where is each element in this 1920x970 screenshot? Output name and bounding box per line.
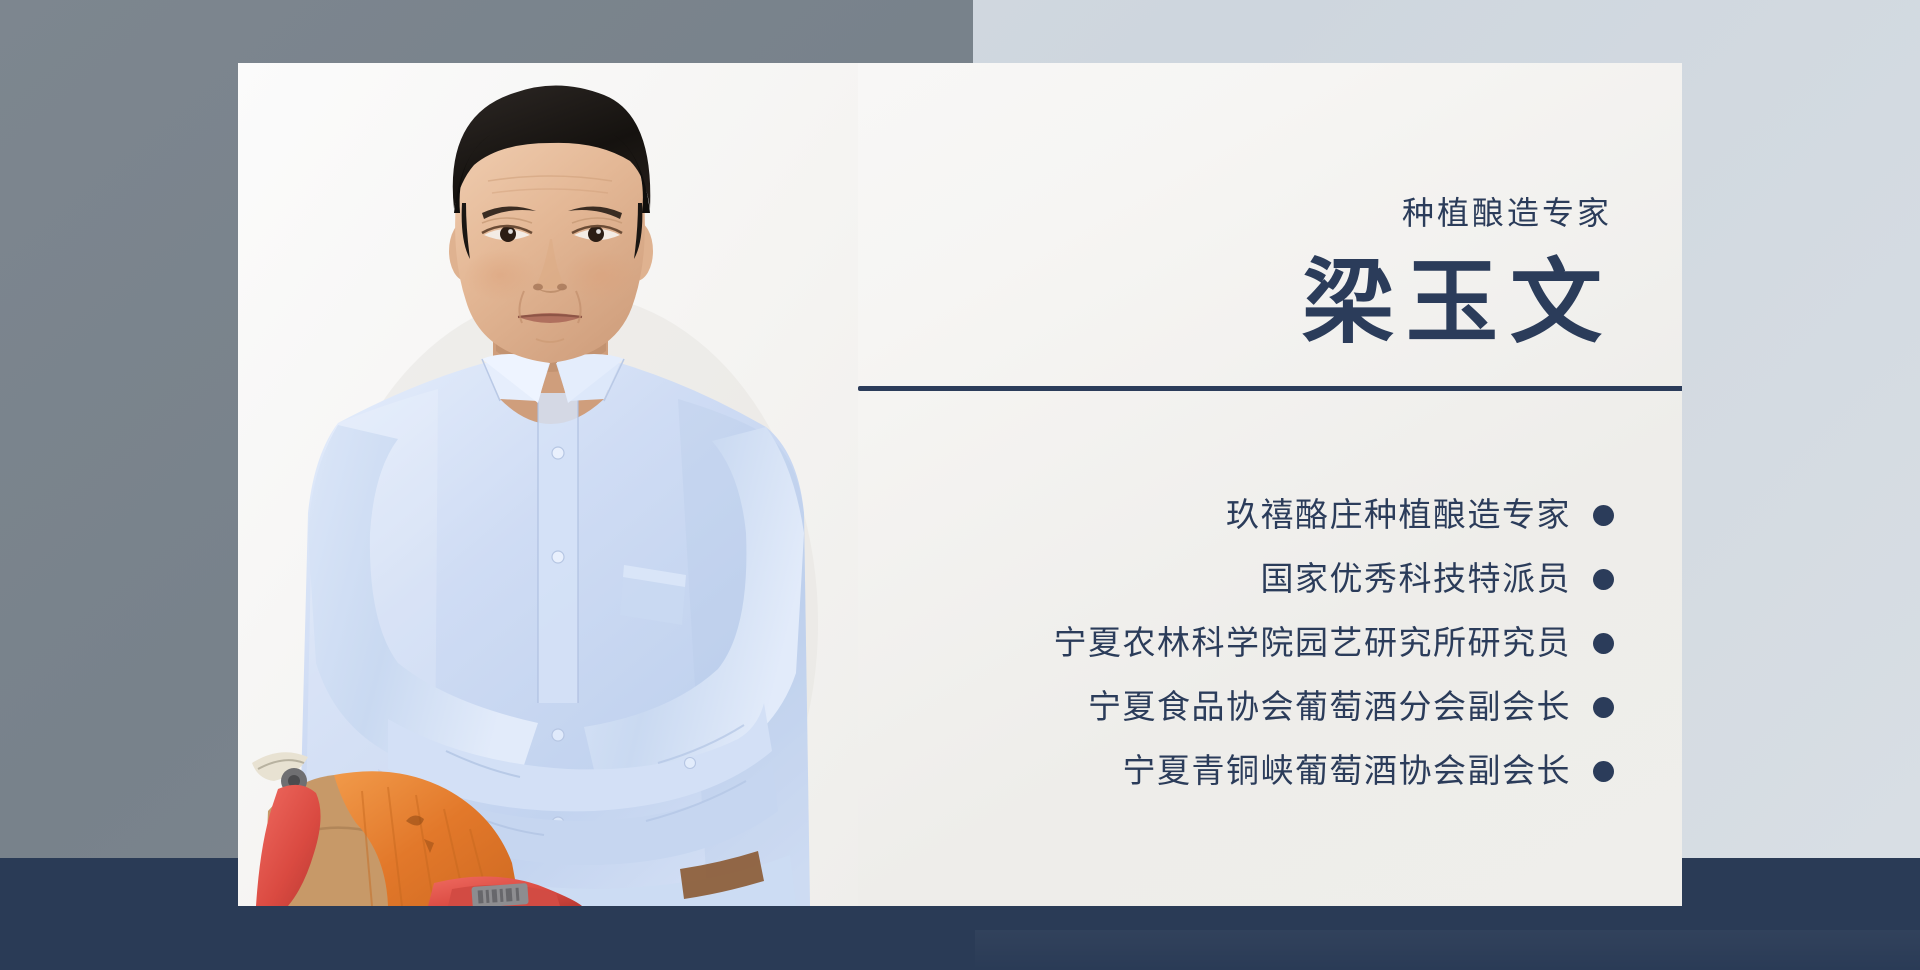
credential-label: 国家优秀科技特派员 [1261, 557, 1572, 601]
role-eyebrow: 种植酿造专家 [1402, 193, 1612, 233]
navy-band-sheen [975, 930, 1920, 970]
page-background: 种植酿造专家 梁玉文 玖禧酪庄种植酿造专家 国家优秀科技特派员 宁夏农林科学院园… [0, 0, 1920, 970]
list-item: 国家优秀科技特派员 [1261, 547, 1615, 611]
credential-label: 玖禧酪庄种植酿造专家 [1226, 493, 1571, 537]
person-name: 梁玉文 [1302, 249, 1614, 357]
profile-card: 种植酿造专家 梁玉文 玖禧酪庄种植酿造专家 国家优秀科技特派员 宁夏农林科学院园… [238, 63, 1682, 906]
bullet-dot-icon [1593, 633, 1614, 654]
credential-label: 宁夏青铜峡葡萄酒协会副会长 [1123, 749, 1572, 793]
list-item: 宁夏食品协会葡萄酒分会副会长 [1088, 675, 1614, 739]
bullet-dot-icon [1593, 697, 1614, 718]
bullet-dot-icon [1593, 569, 1614, 590]
list-item: 宁夏青铜峡葡萄酒协会副会长 [1123, 739, 1615, 803]
list-item: 宁夏农林科学院园艺研究所研究员 [1054, 611, 1615, 675]
credential-label: 宁夏食品协会葡萄酒分会副会长 [1088, 685, 1571, 729]
bullet-dot-icon [1593, 761, 1614, 782]
credential-label: 宁夏农林科学院园艺研究所研究员 [1054, 621, 1572, 665]
credentials-list: 玖禧酪庄种植酿造专家 国家优秀科技特派员 宁夏农林科学院园艺研究所研究员 宁夏食… [1054, 483, 1615, 803]
list-item: 玖禧酪庄种植酿造专家 [1226, 483, 1614, 547]
bullet-dot-icon [1593, 505, 1614, 526]
divider-line [858, 386, 1682, 391]
profile-text-column: 种植酿造专家 梁玉文 玖禧酪庄种植酿造专家 国家优秀科技特派员 宁夏农林科学院园… [858, 63, 1682, 906]
divider [858, 379, 1682, 397]
portrait-photo [238, 63, 858, 906]
